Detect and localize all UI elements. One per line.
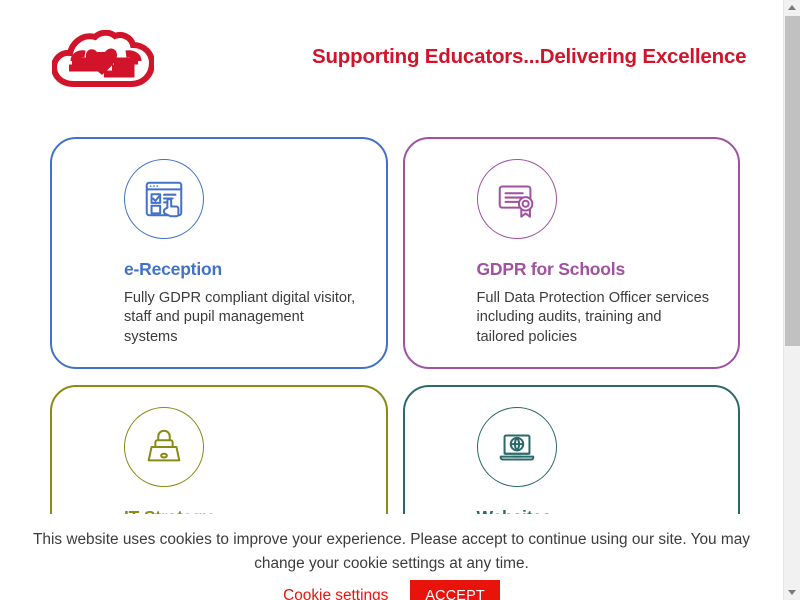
vertical-scrollbar[interactable] <box>783 0 800 600</box>
card-body: Full Data Protection Officer services in… <box>477 289 713 347</box>
service-card-e-reception[interactable]: e-Reception Fully GDPR compliant digital… <box>50 137 388 369</box>
scroll-up-arrow[interactable] <box>784 0 800 15</box>
page-root: Supporting Educators...Delivering Excell… <box>0 0 800 600</box>
card-body: Fully GDPR compliant digital visitor, st… <box>124 289 360 347</box>
cookie-message: This website uses cookies to improve you… <box>33 531 750 572</box>
scrollbar-thumb[interactable] <box>785 16 800 346</box>
cookie-actions: Cookie settings ACCEPT <box>20 580 763 600</box>
card-title: e-Reception <box>124 259 362 280</box>
cookie-settings-link[interactable]: Cookie settings <box>283 584 388 600</box>
site-header: Supporting Educators...Delivering Excell… <box>0 0 783 118</box>
scroll-down-arrow[interactable] <box>784 585 800 600</box>
site-tagline: Supporting Educators...Delivering Excell… <box>312 45 742 69</box>
form-checklist-hand-icon <box>124 159 204 239</box>
certificate-rosette-icon <box>477 159 557 239</box>
e2e-cloud-logo[interactable] <box>52 30 154 90</box>
card-row-top: e-Reception Fully GDPR compliant digital… <box>50 137 740 369</box>
cookie-consent-banner: This website uses cookies to improve you… <box>0 514 783 600</box>
laptop-globe-icon <box>477 407 557 487</box>
cookie-accept-button[interactable]: ACCEPT <box>410 580 500 600</box>
service-card-gdpr-for-schools[interactable]: GDPR for Schools Full Data Protection Of… <box>403 137 741 369</box>
laptop-padlock-icon <box>124 407 204 487</box>
card-title: GDPR for Schools <box>477 259 715 280</box>
